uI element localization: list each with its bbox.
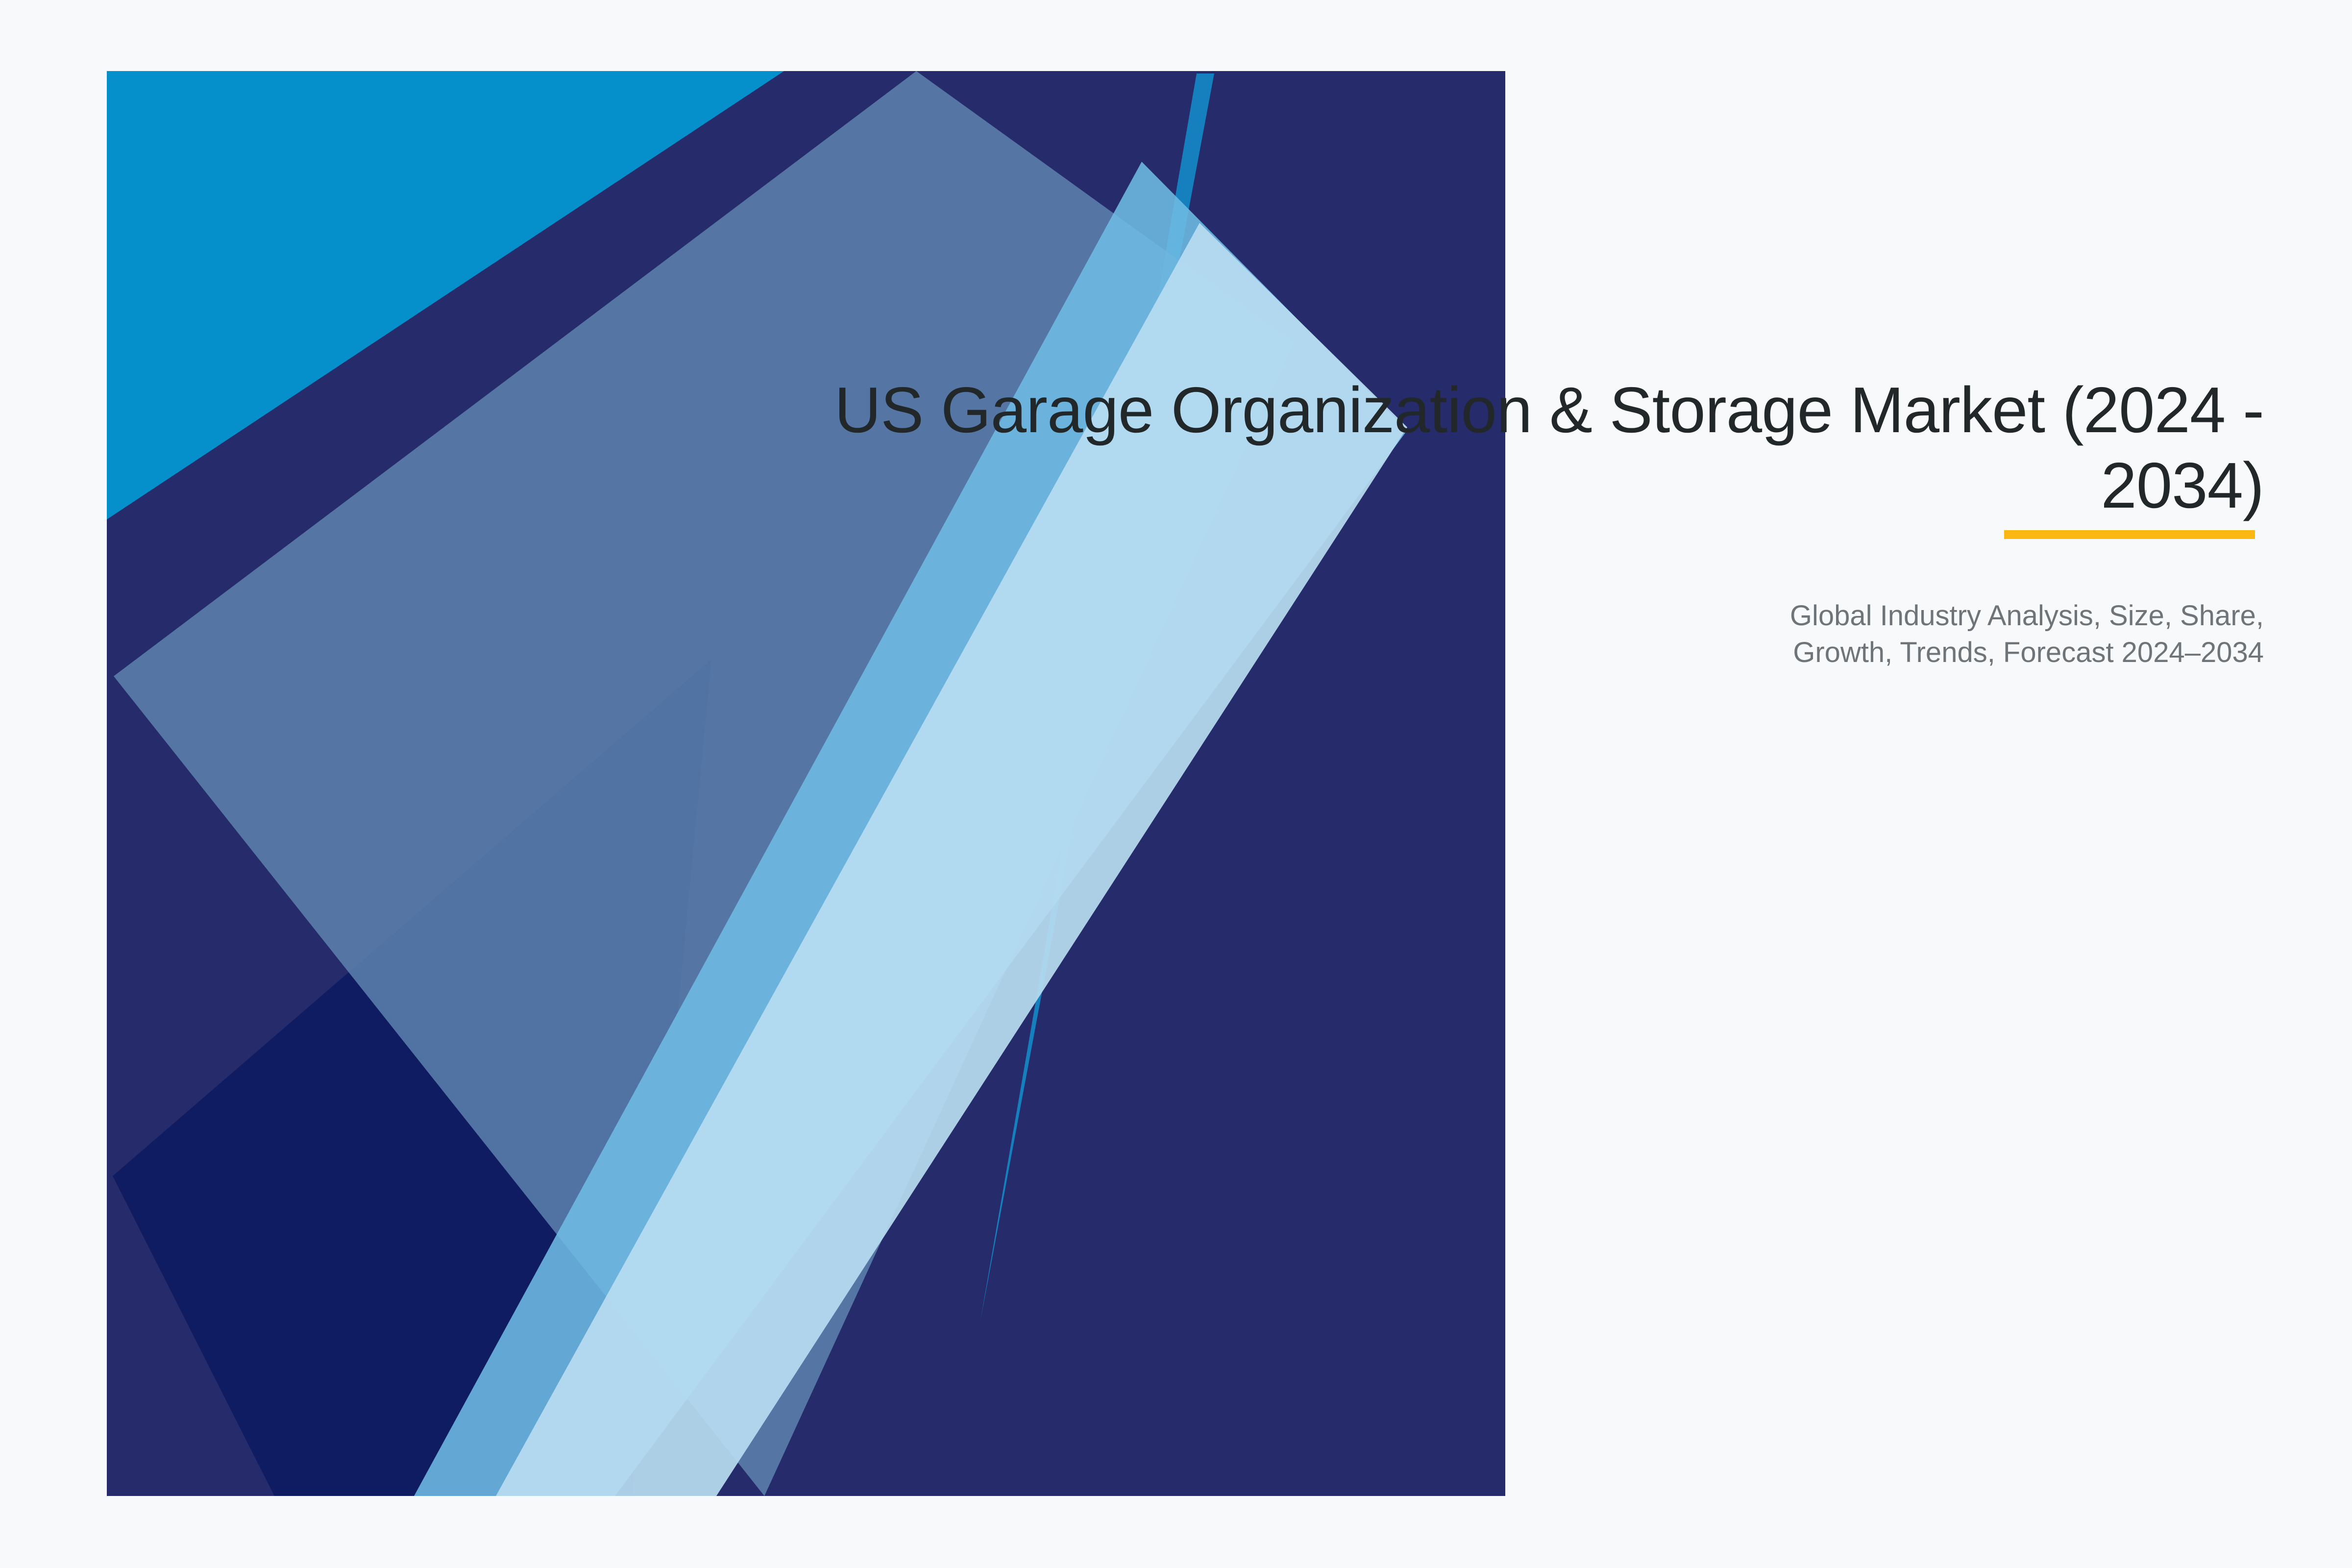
shape-cyan-base-panel [107,71,1505,1496]
shape-steel-blue-overlay-panel [114,71,1294,1496]
page-title: US Garage Organization & Storage Market … [833,372,2264,524]
shape-sky-blue-diagonal-band [414,162,1407,1496]
shape-deep-navy-spire [113,659,711,1496]
title-accent-underline [2004,530,2255,539]
page-subtitle: Global Industry Analysis, Size, Share, G… [833,597,2264,671]
cover-artwork [0,0,2352,1568]
report-cover-page: US Garage Organization & Storage Market … [0,0,2352,1568]
shape-navy-upper-wedge [107,71,1505,1496]
cover-text-block: US Garage Organization & Storage Market … [833,372,2264,671]
shape-cyan-top-left [107,71,784,519]
title-wrapper: US Garage Organization & Storage Market … [833,372,2264,524]
shape-cyan-thin-spike [980,73,1214,1323]
